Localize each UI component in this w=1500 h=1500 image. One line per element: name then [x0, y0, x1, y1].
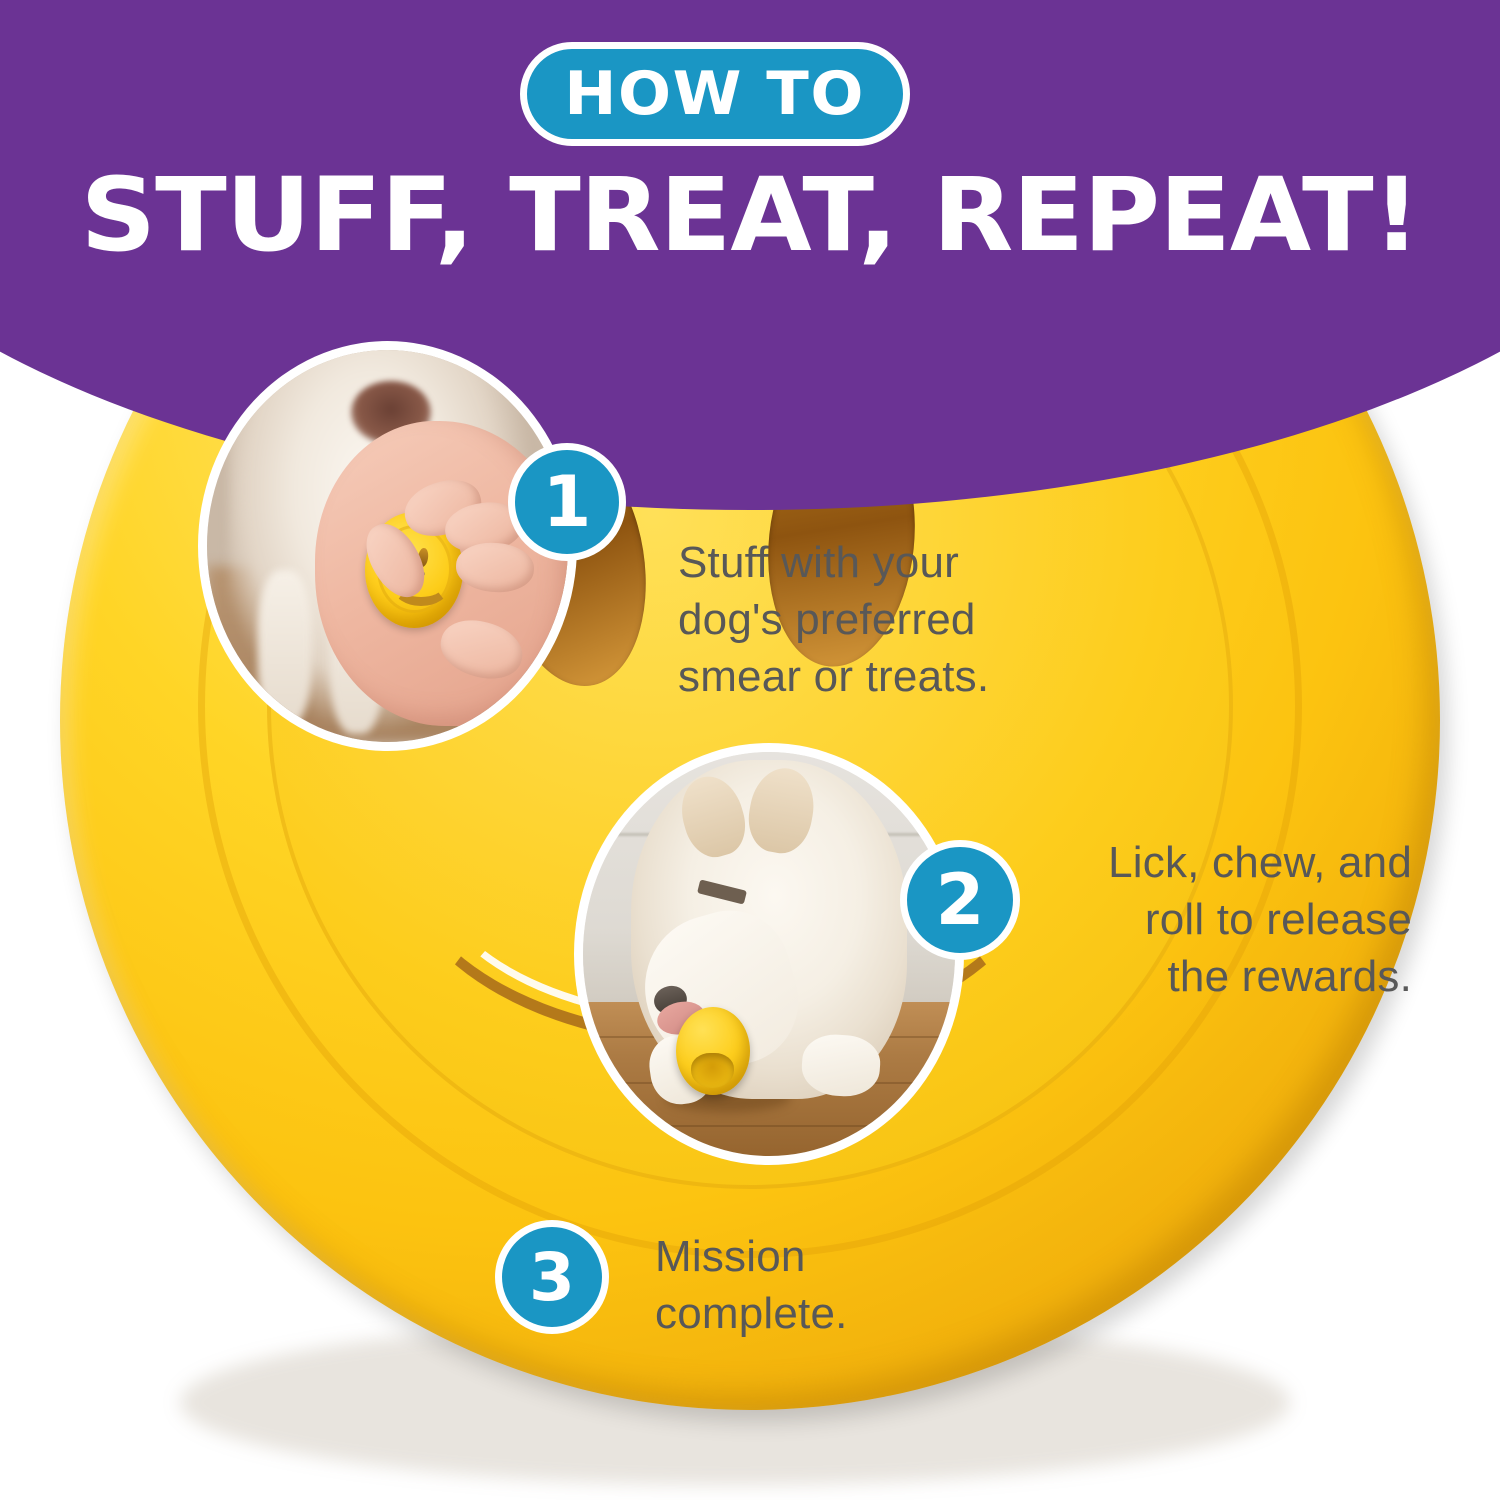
step-1-number-badge: 1: [508, 443, 626, 561]
step-2-plank-seam: [583, 1125, 955, 1127]
step-1-photo: [207, 350, 568, 742]
step-1-finger: [434, 612, 529, 688]
page-title: STUFF, TREAT, REPEAT!: [0, 162, 1500, 269]
step-1-finger: [454, 540, 535, 594]
step-2-number-badge: 2: [900, 840, 1020, 960]
how-to-label: HOW TO: [565, 64, 866, 124]
step-3-description: Mission complete.: [655, 1228, 1055, 1342]
step-1-description: Stuff with your dog's preferred smear or…: [678, 534, 1098, 706]
step-2-description: Lick, chew, and roll to release the rewa…: [1000, 834, 1412, 1006]
step-2-treat-ball: [676, 1007, 750, 1096]
step-2-scene: [583, 752, 955, 1156]
step-2-ball-opening: [691, 1053, 734, 1089]
step-3-number-badge: 3: [495, 1220, 609, 1334]
infographic-canvas: HOW TO STUFF, TREAT, REPEAT!: [0, 0, 1500, 1500]
how-to-pill-badge: HOW TO: [520, 42, 910, 146]
step-2-photo: [583, 752, 955, 1156]
step-1-dog-leg-left: [258, 570, 312, 727]
step-1-scene: [207, 350, 568, 742]
